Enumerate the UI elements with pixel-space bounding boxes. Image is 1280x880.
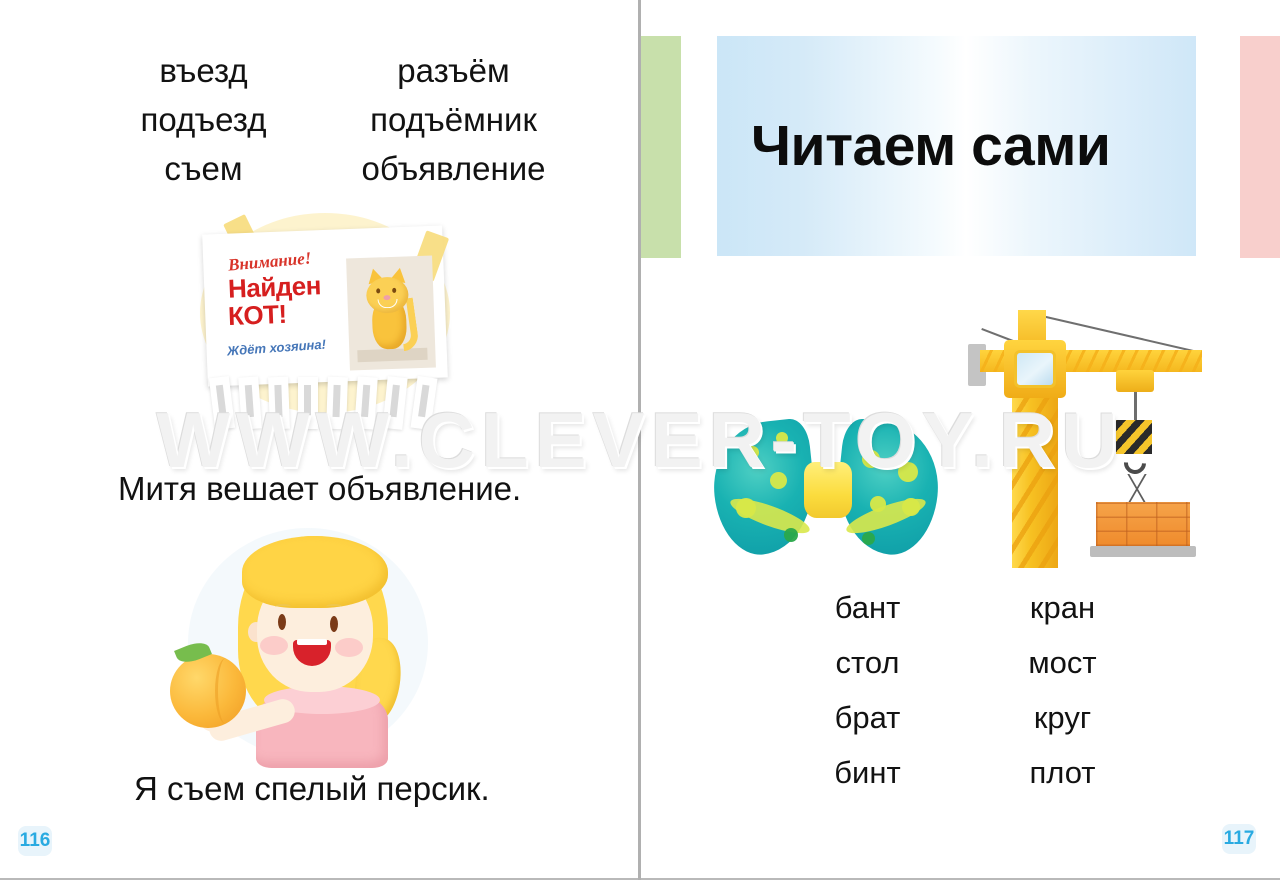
book-spread: въезд разъём подъезд подъёмник съем объя… [0,0,1280,880]
girl-hair-fringe [242,536,388,608]
crane-illustration [968,288,1214,568]
bow-dot [776,432,788,444]
chapter-title: Читаем сами [717,113,1110,179]
peach-crease [215,658,237,724]
word-cell: плот [965,755,1160,791]
book-gutter [638,0,641,880]
poster-headline-line1: Найден [228,273,322,302]
accent-strip-pink [1240,36,1280,258]
crane-hook-block [1116,420,1152,454]
bow-dot [862,532,875,545]
sentence-persik: Я съем спелый персик. [134,770,490,808]
bow-dot [898,462,918,482]
page-number-left: 116 [18,826,52,856]
bow-dot [862,450,880,468]
fringe-strip [382,376,407,430]
girl-eyebrow-right-icon [326,604,342,609]
fringe-strip [326,377,348,430]
word-cell: подъёмник [311,101,596,139]
girl-cheek-right [335,638,363,657]
brick-pallet [1090,546,1196,557]
word-cell: подъезд [96,101,311,139]
right-word-list: бант кран стол мост брат круг бинт плот [770,590,1160,791]
cat-eye-left-icon [376,288,380,293]
word-cell: разъём [311,52,596,90]
girl-eye-right-icon [330,616,338,632]
word-cell: бант [770,590,965,626]
word-cell: мост [965,645,1160,681]
word-cell: съем [96,150,311,188]
fringe-strip [268,377,290,430]
bow-dot [746,446,759,459]
sentence-mitya: Митя вешает объявление. [118,470,521,508]
chapter-banner: Читаем сами [717,36,1196,256]
crane-mast-lattice [1012,396,1058,568]
page-number-right: 117 [1222,824,1256,854]
fringe-strip [238,376,262,429]
word-cell: объявление [311,150,596,188]
accent-strip-green [641,36,681,258]
fringe-strip [354,376,378,429]
word-cell: бинт [770,755,965,791]
bow-dot [902,498,920,516]
bow-knot [804,462,852,518]
left-word-list: въезд разъём подъезд подъёмник съем объя… [96,52,596,188]
bow-dot [870,496,886,512]
bow-dot [736,498,756,518]
word-cell: кран [965,590,1160,626]
poster-headline-line2: КОТ! [228,302,288,329]
crane-sling-right [1127,474,1180,504]
brick-load-icon [1096,502,1190,546]
poster-tear-off-fringe [212,377,442,433]
word-cell: стол [770,645,965,681]
lost-cat-poster-illustration: Внимание! Найден КОТ! Ждёт хозяина! [180,205,480,440]
girl-eyebrow-left-icon [275,604,291,609]
word-cell: круг [965,700,1160,736]
bow-illustration [712,410,942,570]
bow-dot [770,472,787,489]
girl-with-peach-illustration [160,518,460,766]
crane-trolley [1116,370,1154,392]
fringe-strip [209,376,235,430]
word-cell: въезд [96,52,311,90]
fringe-strip [298,377,318,429]
girl-cheek-left [260,636,288,655]
crane-window-icon [1014,350,1056,388]
fringe-strip [410,376,437,430]
cat-ground [357,348,427,362]
cat-photo [346,256,436,371]
left-page: въезд разъём подъезд подъёмник съем объя… [0,0,638,880]
crane-hoist-line [1134,392,1137,422]
word-cell: брат [770,700,965,736]
girl-eye-left-icon [278,614,286,630]
bow-dot [784,528,798,542]
